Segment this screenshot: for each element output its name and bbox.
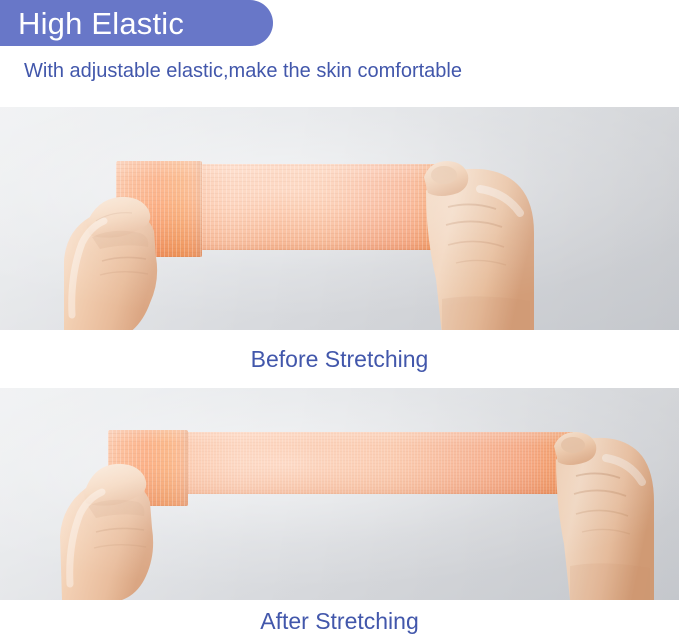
bandage-flat-section-before [198,164,438,250]
right-hand-after [550,432,678,600]
photo-after-stretching [0,388,679,600]
right-hand-illustration [418,159,568,330]
bandage-weave-texture [198,164,438,250]
left-hand-before [56,165,216,330]
left-hand-after [46,432,206,600]
right-hand-illustration [550,432,678,600]
header: High Elastic With adjustable elastic,mak… [0,0,679,107]
left-hand-illustration [56,165,216,330]
title-badge: High Elastic [0,0,273,46]
bandage-weave-texture [186,432,574,494]
caption-before-stretching: Before Stretching [0,330,679,388]
caption-after-label: After Stretching [260,607,419,635]
product-feature-panel: High Elastic With adjustable elastic,mak… [0,0,679,642]
photo-before-stretching [0,107,679,330]
left-hand-illustration [46,432,206,600]
bandage-flat-section-after [186,432,574,494]
subtitle-text: With adjustable elastic,make the skin co… [24,58,462,84]
title-badge-label: High Elastic [18,8,184,39]
right-hand-before [418,159,568,330]
caption-before-label: Before Stretching [251,345,429,373]
caption-after-stretching: After Stretching [0,600,679,642]
